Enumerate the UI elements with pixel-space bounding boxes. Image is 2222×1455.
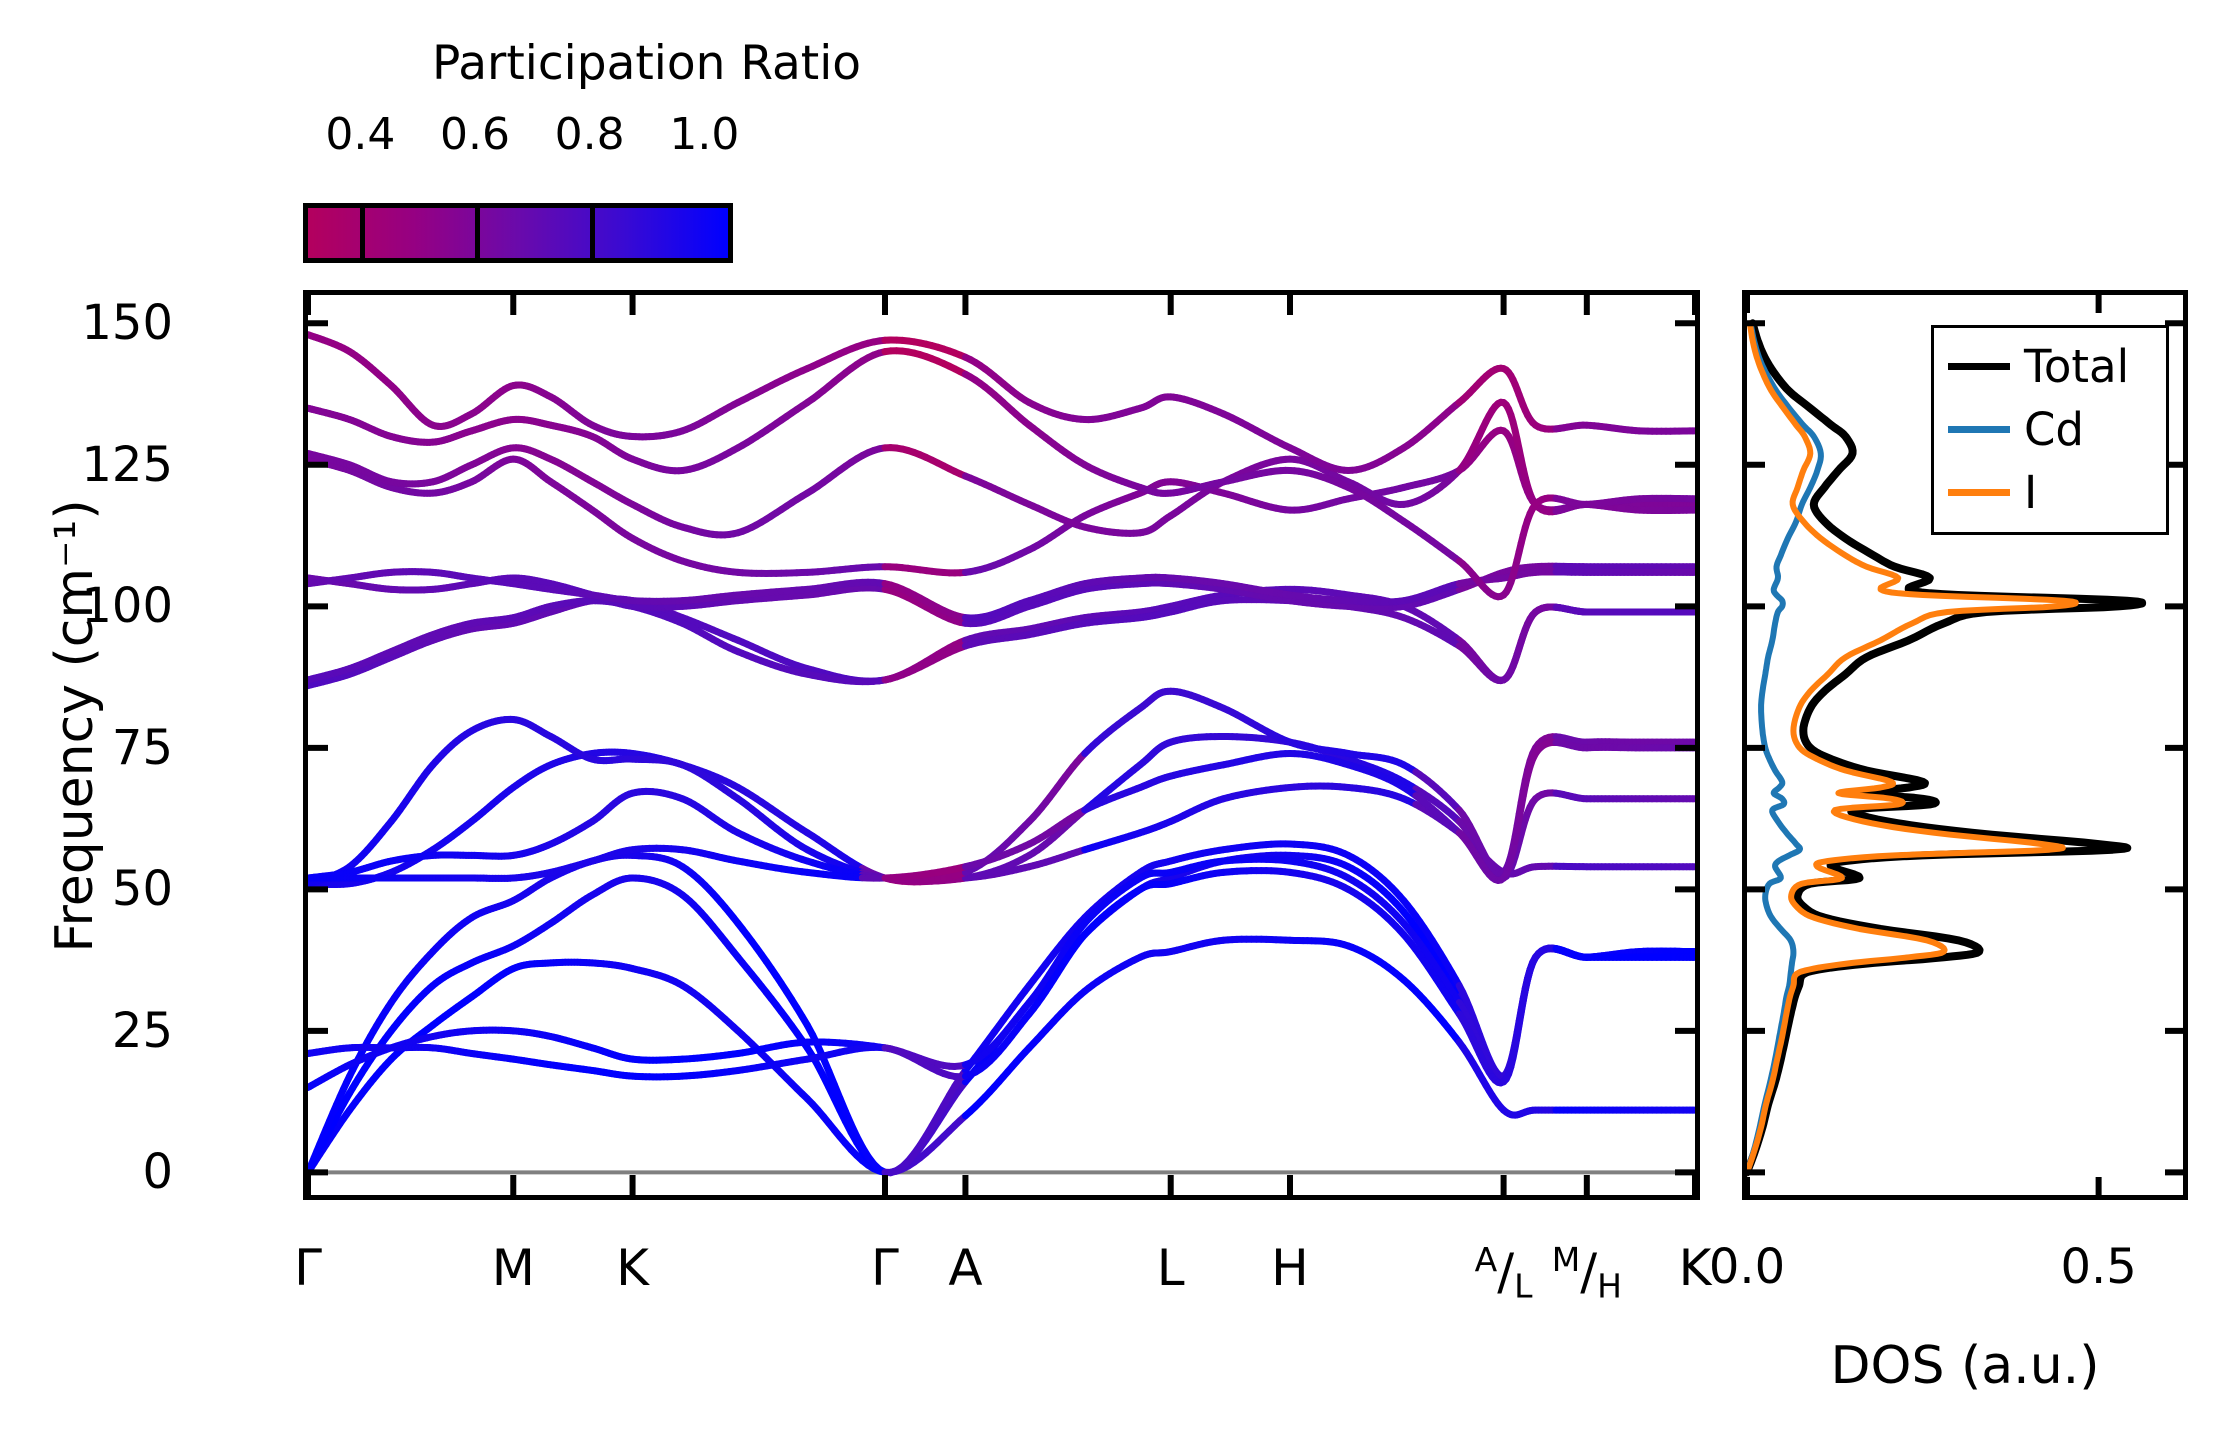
legend-swatch-total <box>1948 363 2010 370</box>
legend-swatch-cd <box>1948 426 2010 433</box>
colorbar-tick-0.6: 0.6 <box>440 113 510 157</box>
dos-tick-0.0: 0.0 <box>1709 1243 1785 1291</box>
x-tick-Γ: Γ <box>294 1243 322 1293</box>
colorbar-title: Participation Ratio <box>432 40 861 87</box>
legend-label-i: I <box>2024 470 2037 515</box>
dos-legend: TotalCdI <box>1931 325 2169 535</box>
colorbar-separator <box>475 208 480 258</box>
x-tick-K: K <box>1679 1243 1712 1293</box>
x-tick-L: L <box>1157 1243 1185 1293</box>
x-tick-K: K <box>616 1243 649 1293</box>
legend-item-cd: Cd <box>1948 401 2084 457</box>
x-tick-A: A <box>948 1243 982 1293</box>
y-tick-50: 50 <box>112 865 173 913</box>
band-branch <box>308 430 1695 573</box>
x-tick-A-L: A/L <box>1475 1243 1533 1302</box>
band-structure-plot <box>308 295 1695 1195</box>
y-tick-25: 25 <box>112 1007 173 1055</box>
y-tick-100: 100 <box>81 582 173 630</box>
y-tick-0: 0 <box>142 1148 173 1196</box>
x-tick-M-H: M/H <box>1552 1243 1622 1302</box>
colorbar-tick-0.8: 0.8 <box>555 113 625 157</box>
colorbar <box>303 203 733 263</box>
x-tick-Γ: Γ <box>871 1243 899 1293</box>
phonon-figure: Participation Ratio 0.40.60.81.0 Frequen… <box>0 0 2222 1455</box>
dos-axis-label: DOS (a.u.) <box>1831 1340 2100 1392</box>
legend-label-cd: Cd <box>2024 407 2084 452</box>
colorbar-separator <box>360 208 365 258</box>
y-axis-label: Frequency (cm⁻¹) <box>49 446 101 1006</box>
colorbar-separator <box>590 208 595 258</box>
colorbar-tick-0.4: 0.4 <box>325 113 395 157</box>
y-tick-150: 150 <box>81 299 173 347</box>
colorbar-tick-1.0: 1.0 <box>669 113 739 157</box>
x-tick-M: M <box>492 1243 535 1293</box>
legend-swatch-i <box>1948 489 2010 496</box>
y-tick-125: 125 <box>81 441 173 489</box>
legend-label-total: Total <box>2024 344 2129 389</box>
x-tick-H: H <box>1271 1243 1309 1293</box>
band-branch <box>308 844 1695 1173</box>
legend-item-total: Total <box>1948 338 2129 394</box>
y-tick-75: 75 <box>112 724 173 772</box>
legend-item-i: I <box>1948 464 2037 520</box>
band-structure-panel <box>303 290 1700 1200</box>
colorbar-gradient <box>308 208 728 258</box>
dos-tick-0.5: 0.5 <box>2060 1243 2136 1291</box>
